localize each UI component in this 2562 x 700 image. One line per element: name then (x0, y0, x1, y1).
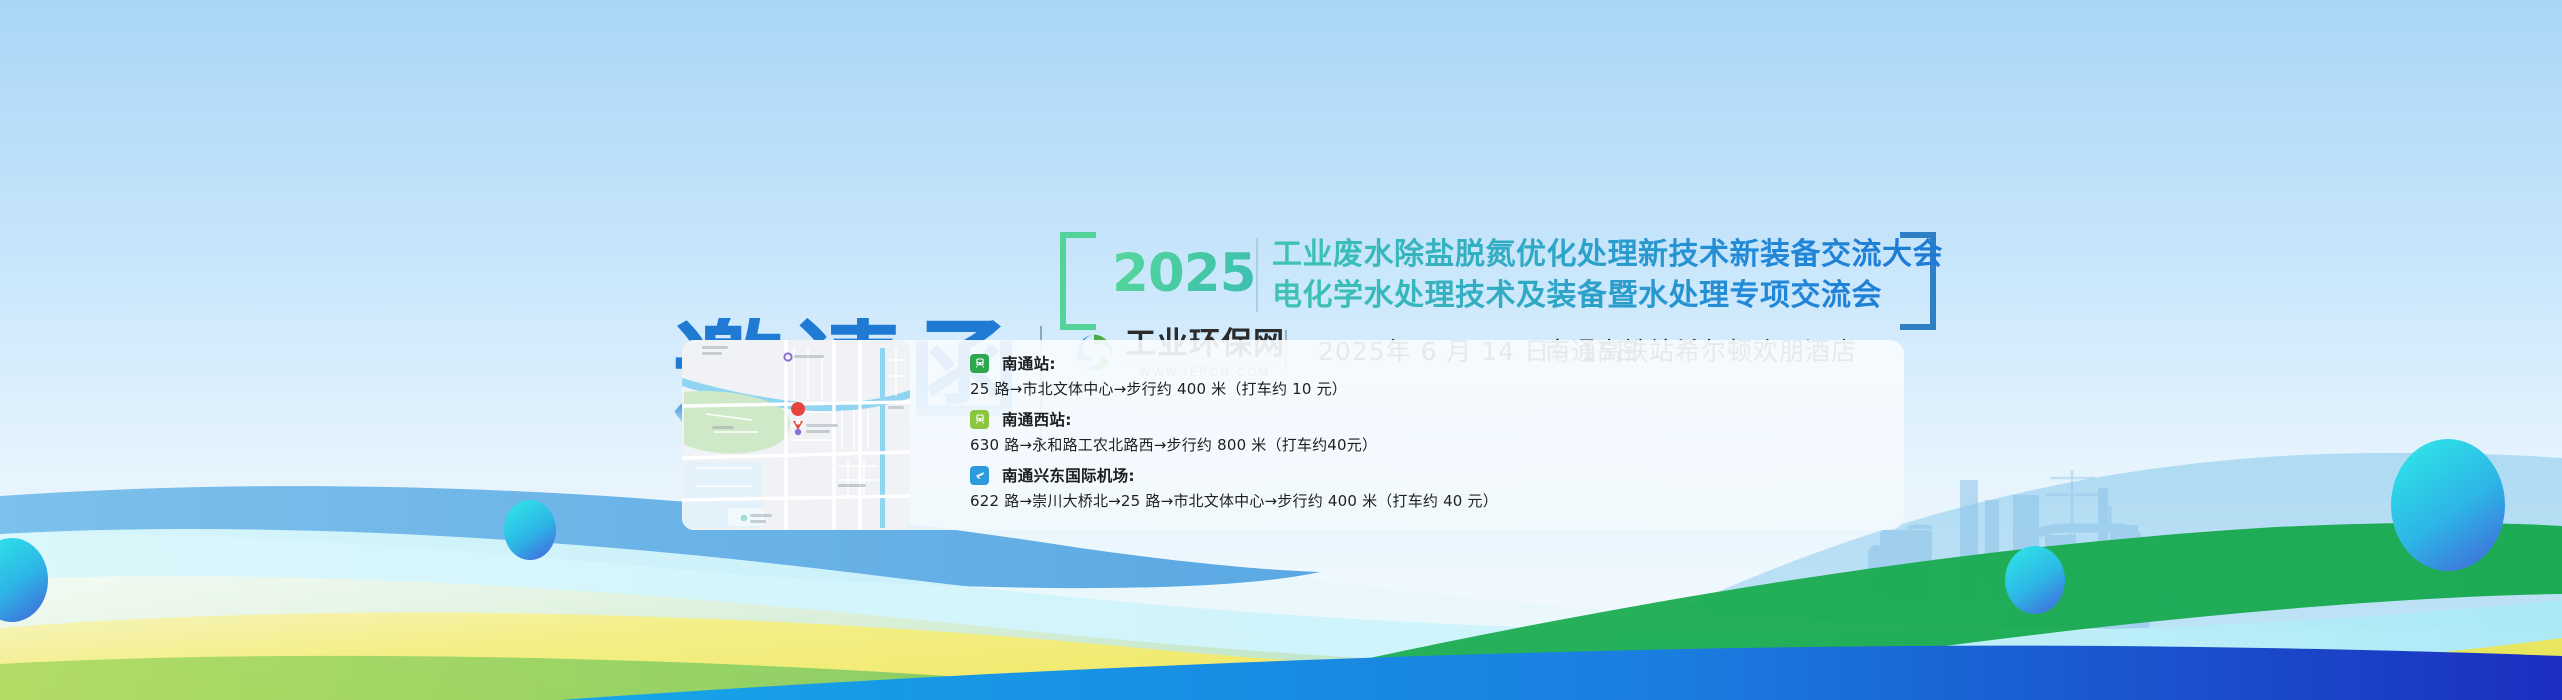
route-station-name: 南通兴东国际机场: (1002, 464, 1135, 486)
route-description: 25 路→市北文体中心→步行约 400 米（打车约 10 元） (970, 378, 1890, 399)
year-divider (1256, 238, 1258, 312)
route-list: 南通站: 25 路→市北文体中心→步行约 400 米（打车约 10 元） (970, 352, 1890, 520)
route-description: 622 路→崇川大桥北→25 路→市北文体中心→步行约 400 米（打车约 40… (970, 490, 1890, 511)
invitation-banner: 邀请函 工业环保网 (0, 0, 2562, 700)
list-item: 南通站: 25 路→市北文体中心→步行约 400 米（打车约 10 元） (970, 352, 1890, 399)
industrial-skyline-icon (1868, 470, 2252, 630)
route-station-name: 南通西站: (1002, 408, 1072, 430)
conference-title-line-1: 工业废水除盐脱氮优化处理新技术新装备交流大会 (1272, 234, 1943, 275)
decorative-sphere (504, 500, 556, 560)
decorative-sphere (2005, 546, 2065, 614)
decorative-sphere (0, 538, 48, 622)
airplane-icon (970, 466, 989, 485)
bracket-left-icon (1060, 232, 1096, 330)
train-icon (970, 410, 989, 429)
conference-title-line-2: 电化学水处理技术及装备暨水处理专项交流会 (1272, 275, 1943, 316)
decorative-sphere (2391, 439, 2505, 571)
route-station-name: 南通站: (1002, 352, 1056, 374)
conference-title-block: 2025 工业废水除盐脱氮优化处理新技术新装备交流大会 电化学水处理技术及装备暨… (1060, 232, 1900, 318)
list-item: 南通兴东国际机场: 622 路→崇川大桥北→25 路→市北文体中心→步行约 40… (970, 464, 1890, 511)
list-item: 南通西站: 630 路→永和路工农北路西→步行约 800 米（打车约40元） (970, 408, 1890, 455)
transit-info-panel: 南通站: 25 路→市北文体中心→步行约 400 米（打车约 10 元） (682, 340, 1904, 530)
route-description: 630 路→永和路工农北路西→步行约 800 米（打车约40元） (970, 434, 1890, 455)
conference-year: 2025 (1112, 247, 1256, 300)
train-icon (970, 354, 989, 373)
conference-titles: 工业废水除盐脱氮优化处理新技术新装备交流大会 电化学水处理技术及装备暨水处理专项… (1272, 234, 1943, 317)
venue-map[interactable] (682, 340, 910, 530)
